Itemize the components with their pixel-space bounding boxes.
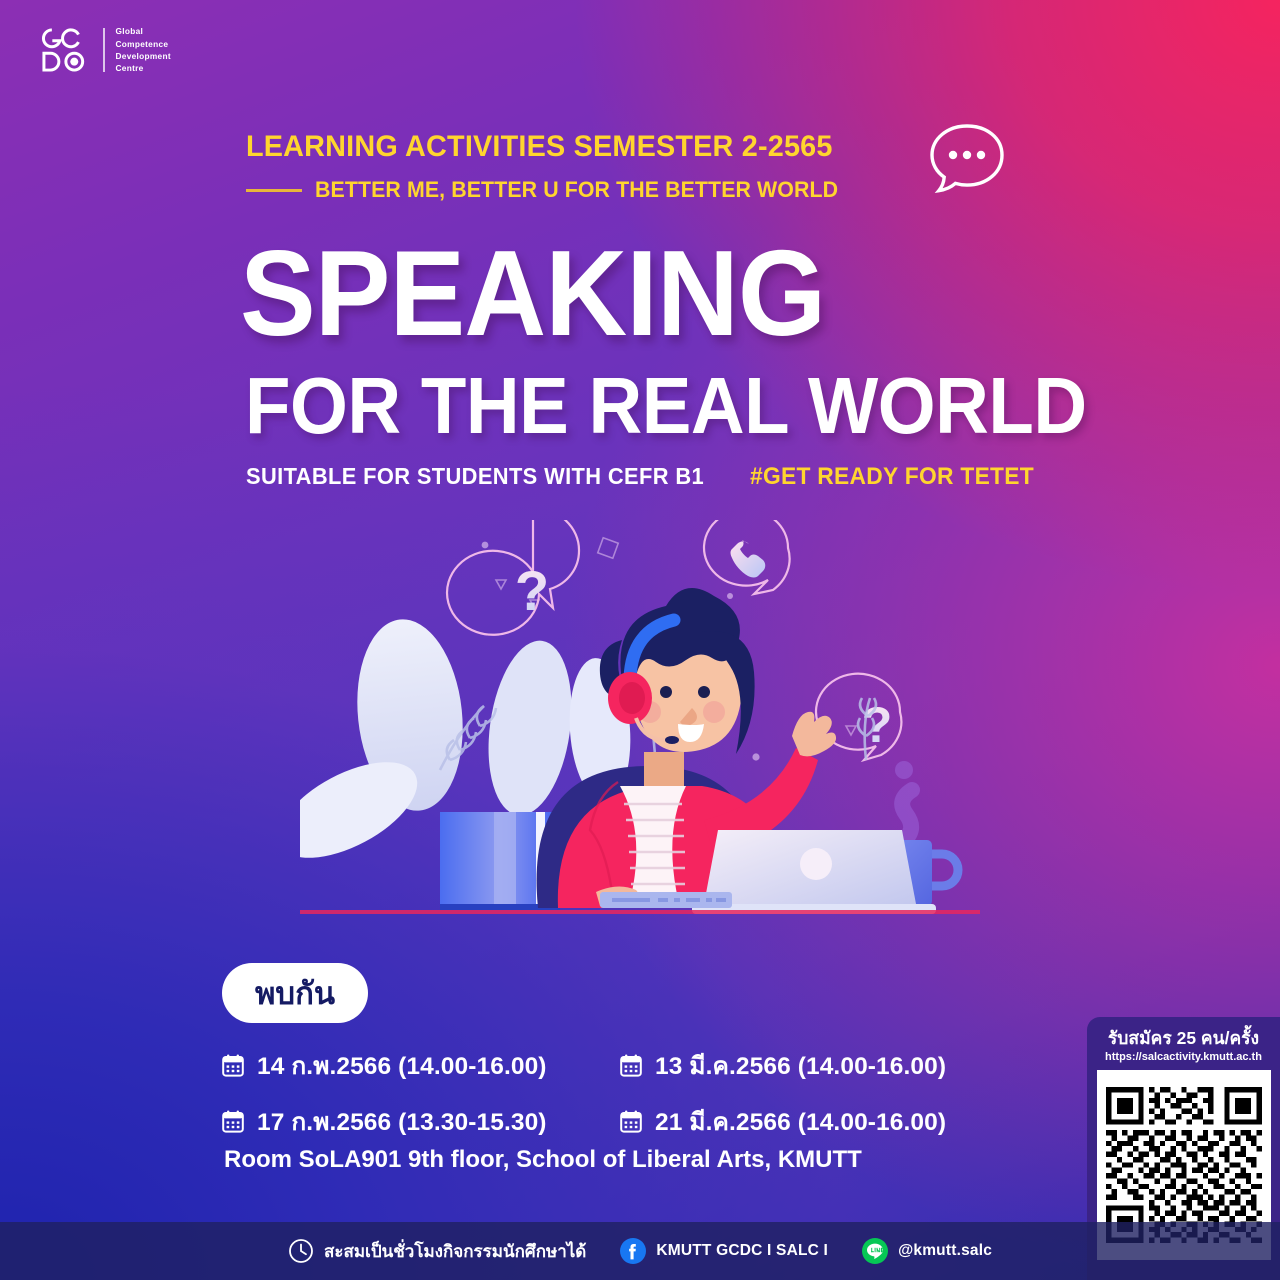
facebook-icon[interactable]: [620, 1238, 646, 1264]
svg-text:?: ?: [515, 559, 549, 622]
question-bubble-left: ?: [447, 520, 579, 635]
line-icon[interactable]: [862, 1238, 888, 1264]
schedule-list: 14 ก.พ.2566 (14.00-16.00) 13 มี.ค.2566 (…: [222, 1046, 982, 1158]
schedule-item: 13 มี.ค.2566 (14.00-16.00): [620, 1046, 946, 1085]
schedule-row: 14 ก.พ.2566 (14.00-16.00) 13 มี.ค.2566 (…: [222, 1046, 982, 1085]
line-name[interactable]: @kmutt.salc: [898, 1242, 992, 1260]
logo-divider: [103, 28, 105, 72]
facebook-contact[interactable]: KMUTT GCDC I SALC I: [620, 1238, 828, 1264]
page-title-line-1: SPEAKING: [240, 232, 825, 354]
logo-name-line-4: Centre: [116, 62, 171, 74]
facebook-name[interactable]: KMUTT GCDC I SALC I: [656, 1242, 828, 1260]
hero-illustration: ? ?: [300, 520, 980, 940]
calendar-icon: [222, 1110, 244, 1133]
calendar-icon: [620, 1110, 642, 1133]
schedule-item: 17 ก.พ.2566 (13.30-15.30): [222, 1102, 620, 1141]
logo-name-line-1: Global: [116, 25, 171, 37]
tagline-level: SUITABLE FOR STUDENTS WITH CEFR B1: [246, 463, 704, 490]
schedule-date: 14 ก.พ.2566 (14.00-16.00): [257, 1046, 547, 1085]
schedule-date: 21 มี.ค.2566 (14.00-16.00): [655, 1102, 946, 1141]
location-text: Room SoLA901 9th floor, School of Libera…: [224, 1146, 862, 1174]
poster: Global Competence Development Centre LEA…: [0, 0, 1280, 1280]
activity-hours-note: สะสมเป็นชั่วโมงกิจกรรมนักศึกษาได้: [288, 1238, 586, 1265]
schedule-row: 17 ก.พ.2566 (13.30-15.30) 21 มี.ค.2566 (…: [222, 1102, 982, 1141]
clock-icon: [288, 1238, 314, 1264]
logo-name-line-2: Competence: [116, 38, 171, 50]
phone-bubble: [704, 520, 790, 594]
subkicker-text: BETTER ME, BETTER U FOR THE BETTER WORLD: [315, 177, 838, 203]
schedule-item: 21 มี.ค.2566 (14.00-16.00): [620, 1102, 946, 1141]
activity-hours-text: สะสมเป็นชั่วโมงกิจกรรมนักศึกษาได้: [324, 1238, 586, 1265]
kicker-text: LEARNING ACTIVITIES SEMESTER 2-2565: [246, 130, 833, 164]
registration-url[interactable]: https://salcactivity.kmutt.ac.th: [1087, 1051, 1280, 1063]
page-title-line-2: FOR THE REAL WORLD: [245, 366, 1087, 446]
meet-badge: พบกัน: [222, 963, 368, 1023]
gcdc-logo: Global Competence Development Centre: [36, 22, 171, 78]
qr-code-icon[interactable]: [1106, 1087, 1262, 1243]
logo-name-line-3: Development: [116, 50, 171, 62]
schedule-date: 17 ก.พ.2566 (13.30-15.30): [257, 1102, 547, 1141]
footer-bar: สะสมเป็นชั่วโมงกิจกรรมนักศึกษาได้ KMUTT …: [0, 1222, 1280, 1280]
schedule-item: 14 ก.พ.2566 (14.00-16.00): [222, 1046, 620, 1085]
meet-badge-label: พบกัน: [255, 978, 335, 1009]
speech-bubble-dots-icon: [925, 122, 1009, 208]
logo-name: Global Competence Development Centre: [116, 25, 171, 74]
tagline: SUITABLE FOR STUDENTS WITH CEFR B1 #GET …: [246, 463, 1049, 491]
registration-title: รับสมัคร 25 คน/ครั้ง: [1087, 1028, 1280, 1048]
gcdc-monogram-icon: [36, 22, 92, 78]
line-contact[interactable]: @kmutt.salc: [862, 1238, 992, 1264]
desk-line: [300, 910, 980, 914]
calendar-icon: [620, 1054, 642, 1077]
tagline-hashtag: #GET READY FOR TETET: [750, 463, 1034, 491]
calendar-icon: [222, 1054, 244, 1077]
schedule-date: 13 มี.ค.2566 (14.00-16.00): [655, 1046, 946, 1085]
subkicker-dash: [246, 189, 302, 192]
subkicker: BETTER ME, BETTER U FOR THE BETTER WORLD: [246, 177, 854, 203]
